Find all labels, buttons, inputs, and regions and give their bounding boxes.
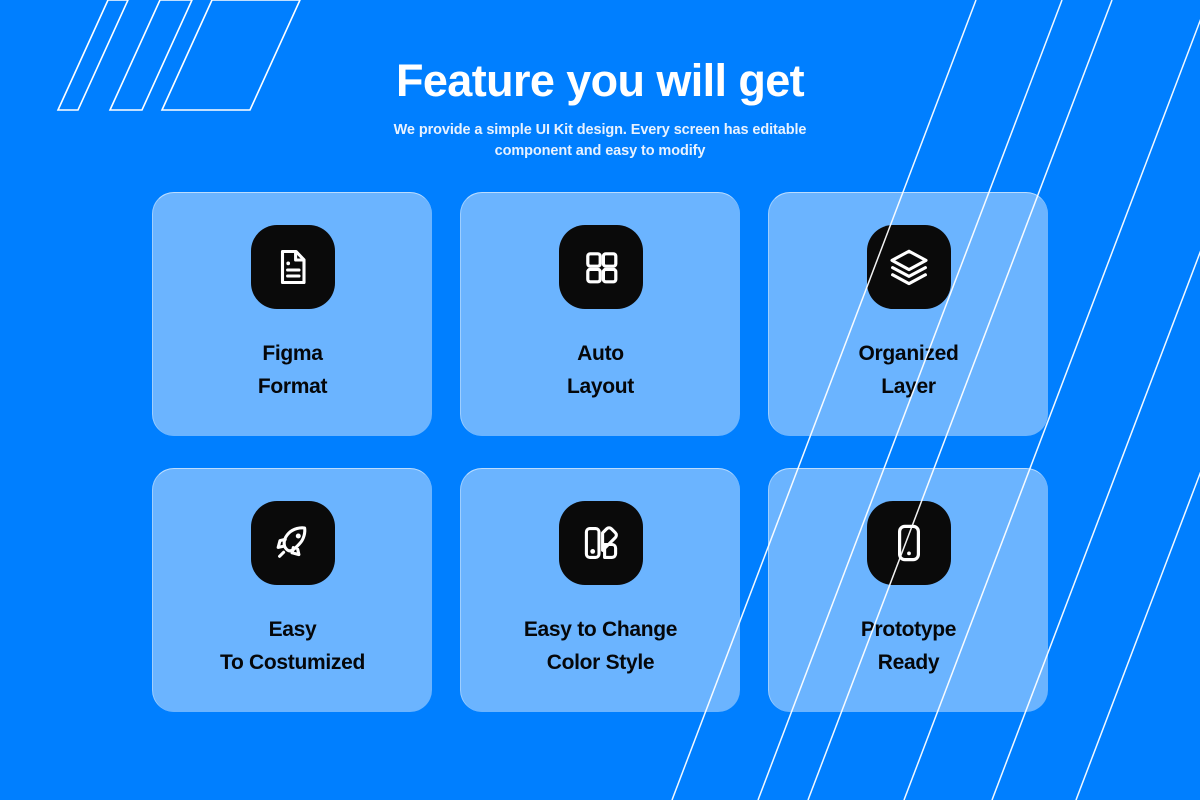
layers-icon (867, 225, 951, 309)
page-subtitle: We provide a simple UI Kit design. Every… (0, 120, 1200, 164)
feature-card-label: Easy To Costumized (220, 613, 365, 679)
feature-label-line-1: Easy to Change (524, 613, 677, 646)
feature-section: Feature you will get We provide a simple… (0, 0, 1200, 800)
feature-card-label: Auto Layout (567, 337, 634, 403)
color-swatch-icon (559, 501, 643, 585)
page-title: Feature you will get (0, 56, 1200, 106)
feature-card-organized-layer[interactable]: Organized Layer (768, 192, 1048, 436)
feature-label-line-1: Prototype (861, 613, 956, 646)
feature-label-line-2: Ready (861, 646, 956, 679)
feature-card-auto-layout[interactable]: Auto Layout (460, 192, 740, 436)
feature-label-line-1: Organized (859, 337, 959, 370)
header: Feature you will get We provide a simple… (0, 56, 1200, 163)
feature-card-label: Organized Layer (859, 337, 959, 403)
feature-card-label: Easy to Change Color Style (524, 613, 677, 679)
subtitle-line-2: component and easy to modify (0, 141, 1200, 163)
feature-label-line-2: Color Style (524, 646, 677, 679)
feature-card-easy-to-costumized[interactable]: Easy To Costumized (152, 468, 432, 712)
feature-card-label: Figma Format (258, 337, 327, 403)
feature-label-line-1: Figma (258, 337, 327, 370)
rocket-icon (251, 501, 335, 585)
feature-card-grid: Figma Format Auto Layout (152, 192, 1048, 712)
feature-label-line-1: Easy (220, 613, 365, 646)
feature-label-line-2: Format (258, 370, 327, 403)
feature-label-line-2: Layout (567, 370, 634, 403)
document-icon (251, 225, 335, 309)
feature-card-label: Prototype Ready (861, 613, 956, 679)
feature-card-easy-to-change-color-style[interactable]: Easy to Change Color Style (460, 468, 740, 712)
feature-label-line-1: Auto (567, 337, 634, 370)
mobile-phone-icon (867, 501, 951, 585)
grid-icon (559, 225, 643, 309)
feature-card-prototype-ready[interactable]: Prototype Ready (768, 468, 1048, 712)
feature-card-figma-format[interactable]: Figma Format (152, 192, 432, 436)
subtitle-line-1: We provide a simple UI Kit design. Every… (0, 120, 1200, 142)
feature-label-line-2: Layer (859, 370, 959, 403)
feature-label-line-2: To Costumized (220, 646, 365, 679)
